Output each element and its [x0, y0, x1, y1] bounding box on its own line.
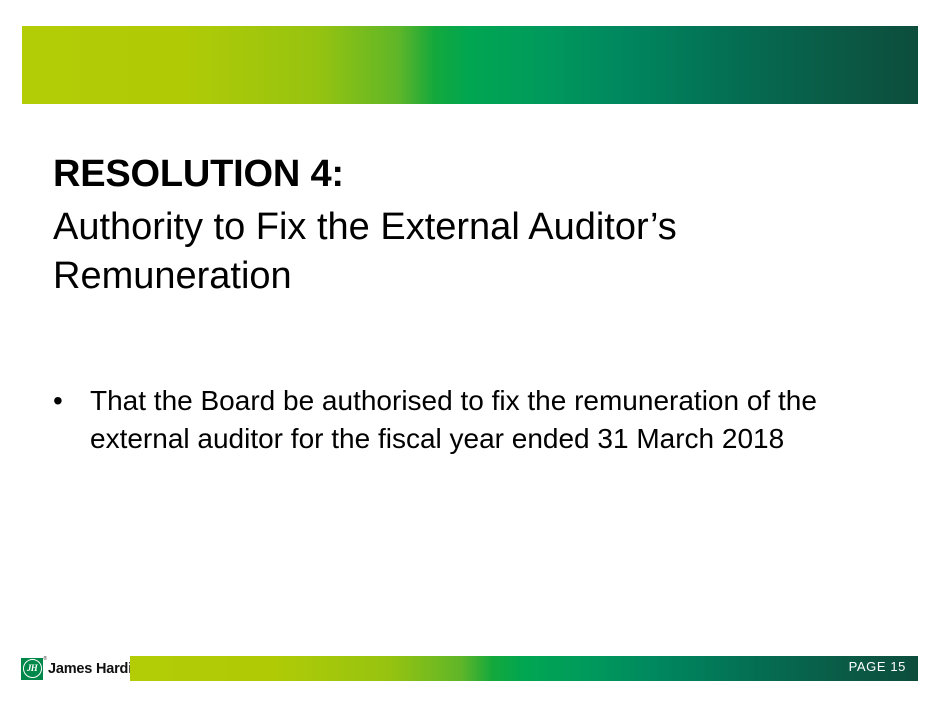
- slide-canvas: RESOLUTION 4: Authority to Fix the Exter…: [0, 0, 940, 705]
- list-item: • That the Board be authorised to fix th…: [53, 382, 873, 458]
- brand-name-text: James Hardie: [48, 661, 140, 677]
- logo-ring-shape: JH: [23, 659, 42, 678]
- slide-title-main: RESOLUTION 4:: [53, 152, 873, 197]
- registered-trademark-icon: ®: [43, 657, 47, 662]
- brand-logo: JH ® James Hardie: [21, 656, 140, 681]
- page-number-label: PAGE 15: [849, 659, 906, 674]
- footer-gradient-band: [130, 656, 918, 681]
- james-hardie-logo-icon: JH ®: [21, 658, 43, 680]
- header-gradient-band: [22, 26, 918, 104]
- slide-title-subtitle: Authority to Fix the External Auditor’s …: [53, 203, 753, 302]
- list-item-text: That the Board be authorised to fix the …: [90, 382, 860, 458]
- body-content: • That the Board be authorised to fix th…: [53, 382, 873, 458]
- logo-monogram-text: JH: [27, 664, 37, 673]
- title-block: RESOLUTION 4: Authority to Fix the Exter…: [53, 152, 873, 302]
- bullet-point-icon: •: [53, 382, 90, 420]
